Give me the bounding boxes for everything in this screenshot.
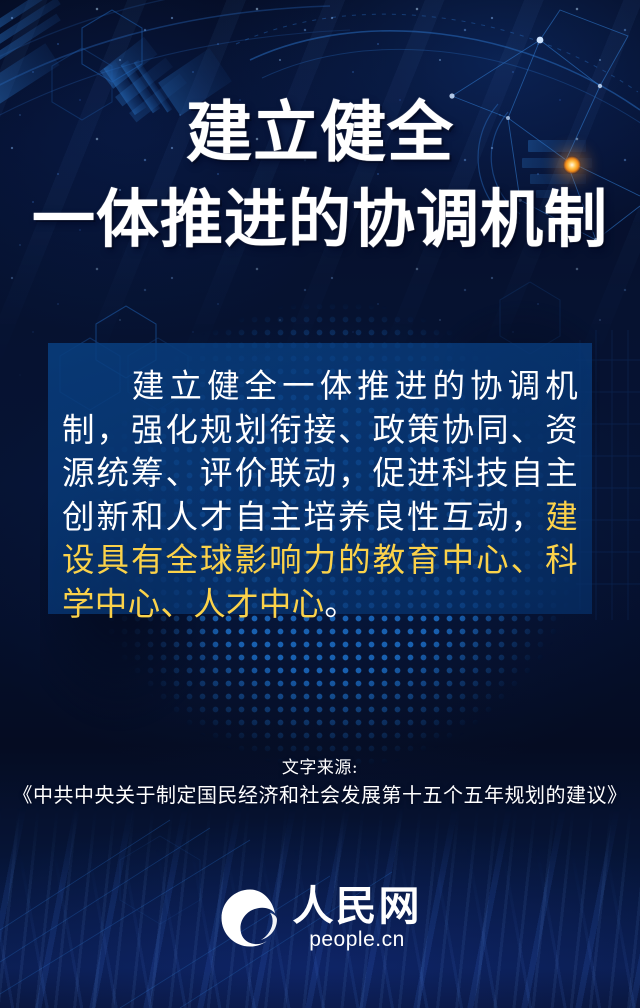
body-paragraph: 建立健全一体推进的协调机制，强化规划衔接、政策协同、资源统筹、评价联动，促进科技… [62, 365, 578, 626]
people-cn-crescent-globe-icon [219, 887, 281, 949]
body-text-panel: 建立健全一体推进的协调机制，强化规划衔接、政策协同、资源统筹、评价联动，促进科技… [48, 343, 592, 614]
source-label: 文字来源: [0, 756, 640, 780]
logo-name-en: people.cn [309, 929, 405, 951]
poster-title: 建立健全 一体推进的协调机制 [0, 100, 640, 251]
body-segment-white-1: 建立健全一体推进的协调机制，强化规划衔接、政策协同、资源统筹、评价联动，促进科技… [62, 367, 578, 536]
body-segment-white-2: 。 [324, 585, 357, 623]
title-line-2: 一体推进的协调机制 [0, 188, 640, 251]
logo-wordmark: 人民网 people.cn [293, 884, 422, 951]
logo-name-cn: 人民网 [293, 884, 422, 928]
poster-root: 建立健全 一体推进的协调机制 建立健全一体推进的协调机制，强化规划衔接、政策协同… [0, 0, 640, 1008]
people-cn-logo[interactable]: 人民网 people.cn [0, 884, 640, 951]
source-document-title: 《中共中央关于制定国民经济和社会发展第十五个五年规划的建议》 [0, 780, 640, 810]
source-attribution: 文字来源: 《中共中央关于制定国民经济和社会发展第十五个五年规划的建议》 [0, 756, 640, 810]
title-line-1: 建立健全 [0, 100, 640, 166]
